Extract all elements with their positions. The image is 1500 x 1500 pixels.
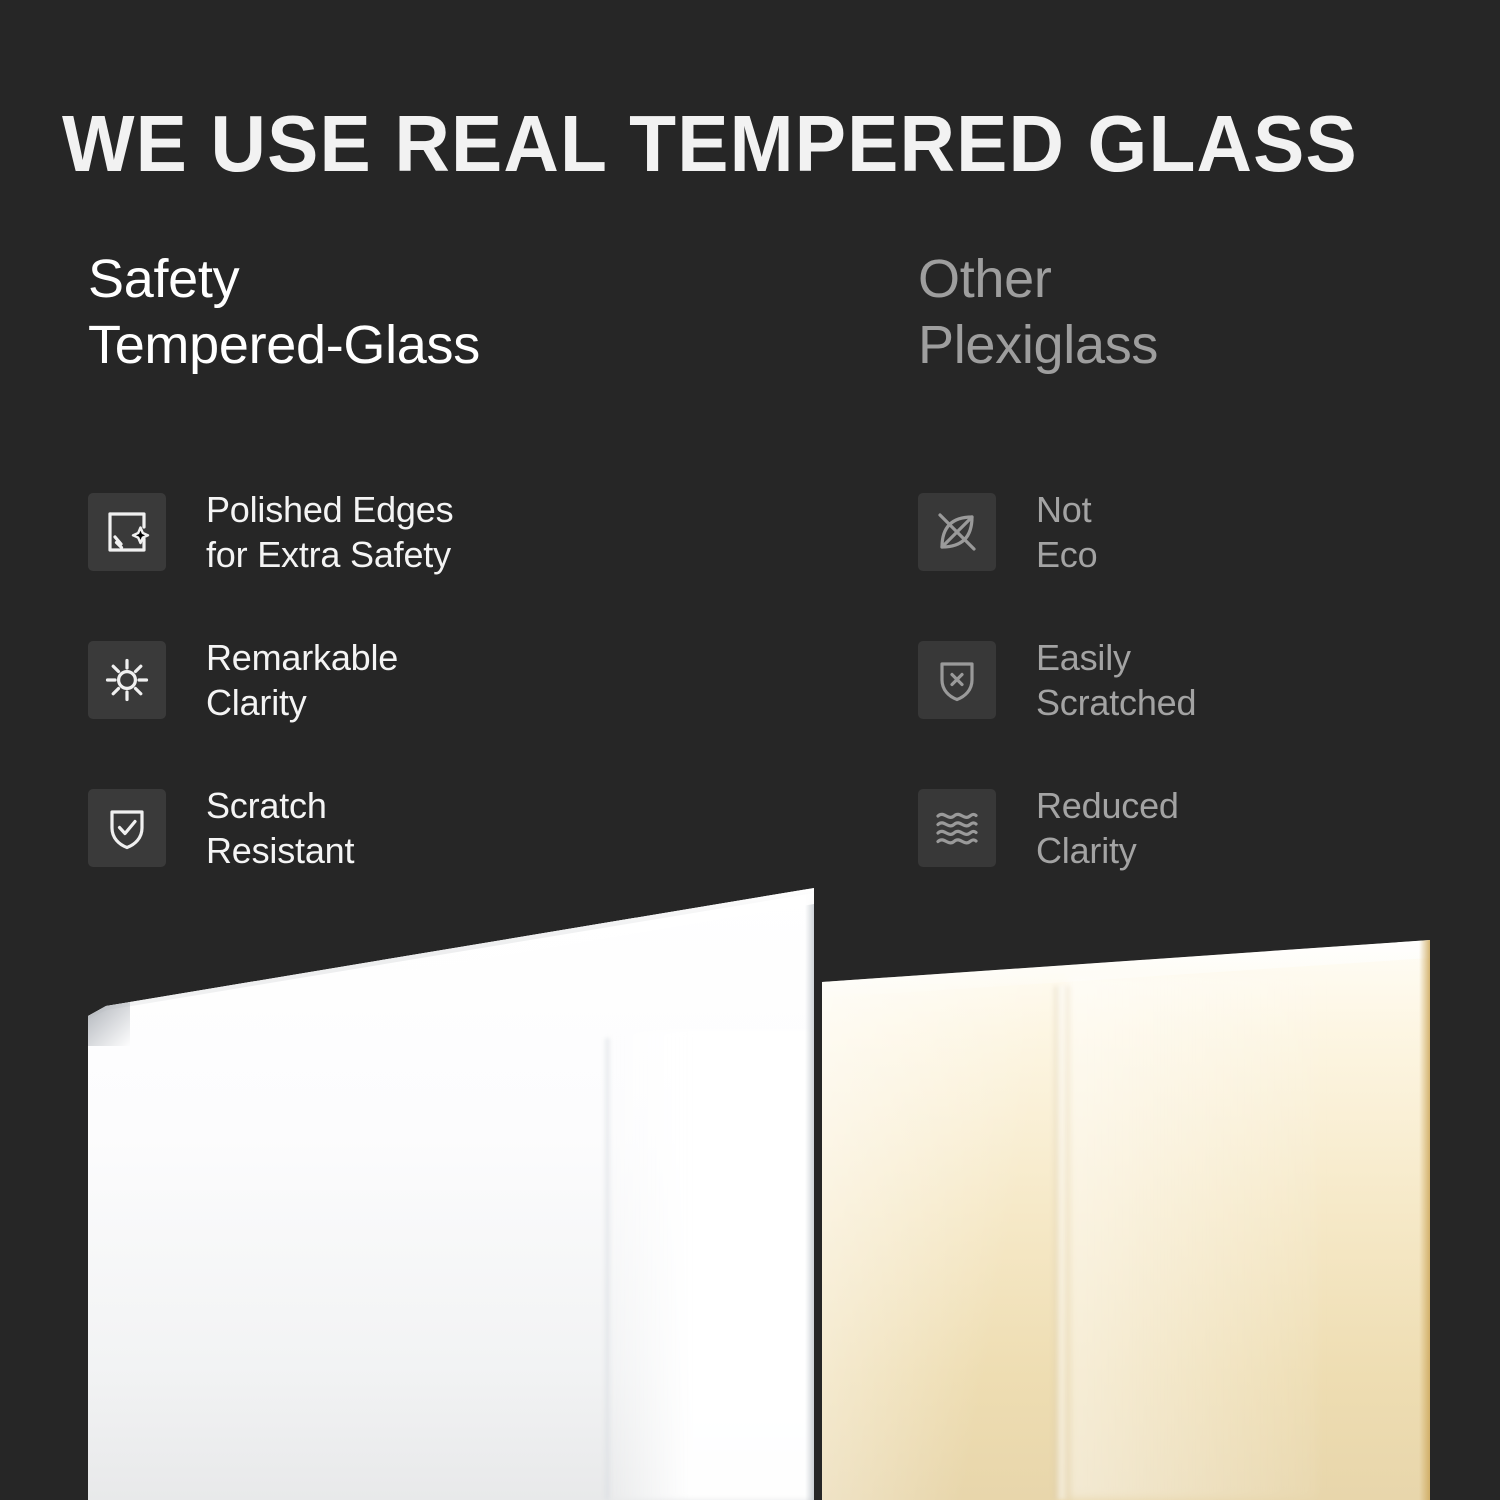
glass-reflection-edge <box>604 1038 609 1500</box>
infographic-page: WE USE REAL TEMPERED GLASS Safety Temper… <box>0 0 1500 1500</box>
feature-label: Easily Scratched <box>1036 635 1196 725</box>
column-tempered-glass: Safety Tempered-Glass Polished Edges for… <box>88 246 848 378</box>
glass-right-edge <box>805 888 814 1500</box>
feature-polished-edges: Polished Edges for Extra Safety <box>88 458 848 606</box>
feature-easily-scratched: Easily Scratched <box>918 606 1458 754</box>
plexi-sheen <box>1068 976 1318 1500</box>
wavy-lines-icon <box>918 789 996 867</box>
column-heading-tempered-glass: Safety Tempered-Glass <box>88 246 848 378</box>
sun-clarity-icon <box>88 641 166 719</box>
glass-corner-highlight <box>88 1000 130 1046</box>
feature-list-plexiglass: Not Eco Easily Scratched <box>918 458 1458 902</box>
column-plexiglass: Other Plexiglass Not Eco <box>918 246 1458 378</box>
polished-glass-sparkle-icon <box>88 493 166 571</box>
feature-not-eco: Not Eco <box>918 458 1458 606</box>
shield-check-icon <box>88 789 166 867</box>
plexiglass-panel <box>822 940 1430 1500</box>
feature-label: Polished Edges for Extra Safety <box>206 487 453 577</box>
plexi-seam <box>1054 986 1070 1500</box>
glass-reflection <box>606 1030 814 1500</box>
feature-label: Not Eco <box>1036 487 1097 577</box>
column-heading-plexiglass: Other Plexiglass <box>918 246 1458 378</box>
feature-list-tempered-glass: Polished Edges for Extra Safety <box>88 458 848 902</box>
product-photo <box>0 860 1500 1500</box>
feature-remarkable-clarity: Remarkable Clarity <box>88 606 848 754</box>
tempered-glass-panel <box>88 888 814 1500</box>
plexi-right-edge <box>1419 940 1430 1500</box>
shield-x-icon <box>918 641 996 719</box>
leaf-slashed-icon <box>918 493 996 571</box>
page-title: WE USE REAL TEMPERED GLASS <box>62 96 1396 192</box>
feature-label: Remarkable Clarity <box>206 635 398 725</box>
